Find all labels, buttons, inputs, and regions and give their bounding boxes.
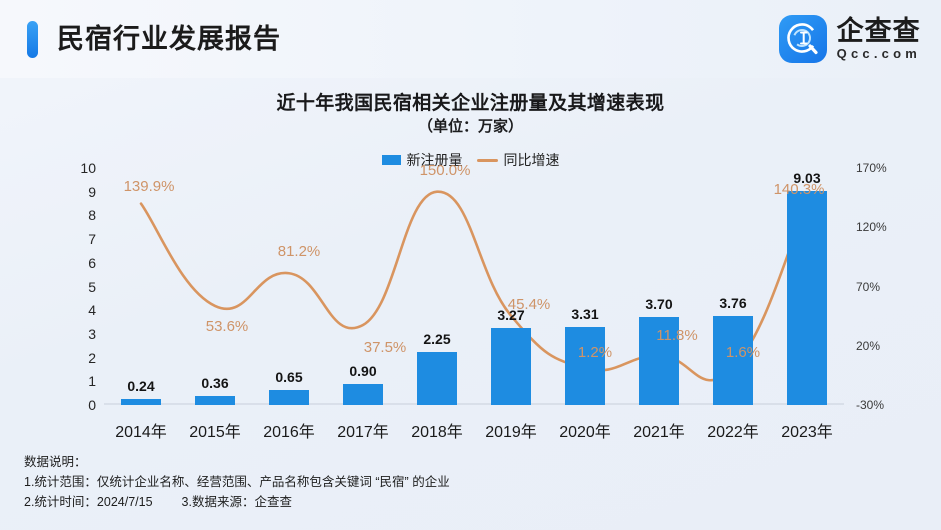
bar-value-label: 0.36 — [201, 375, 228, 391]
x-axis-label: 2021年 — [633, 418, 685, 442]
legend-line-swatch-icon — [477, 159, 498, 162]
qcc-logo-icon — [779, 15, 827, 63]
data-notes: 数据说明： 1.统计范围：仅统计企业名称、经营范围、产品名称包含关键词 “民宿”… — [24, 452, 450, 512]
growth-rate-label: 140.3% — [774, 181, 825, 198]
notes-time: 2.统计时间：2024/7/15 — [24, 495, 153, 509]
y-axis-left-tick: 1 — [88, 373, 96, 389]
bar-value-label: 3.31 — [571, 306, 598, 322]
brand-logo: 企查查 Qcc.com — [779, 14, 921, 64]
growth-rate-label: 53.6% — [206, 318, 249, 335]
header-accent-bar — [27, 21, 38, 58]
y-axis-left-tick: 6 — [88, 255, 96, 271]
y-axis-left-tick: 8 — [88, 207, 96, 223]
chart-legend: 新注册量 同比增速 — [0, 150, 941, 170]
x-axis-label: 2016年 — [263, 418, 315, 442]
bar-value-label: 0.90 — [349, 363, 376, 379]
growth-rate-label: 139.9% — [124, 178, 175, 195]
notes-heading: 数据说明： — [24, 452, 450, 472]
growth-rate-line — [141, 192, 807, 381]
y-axis-left-tick: 3 — [88, 326, 96, 342]
x-axis-label: 2017年 — [337, 418, 389, 442]
bar-2023年[interactable] — [787, 191, 827, 405]
y-axis-left-tick: 7 — [88, 231, 96, 247]
page-header: 民宿行业发展报告 企查查 Qcc.com — [0, 0, 941, 78]
notes-scope: 1.统计范围：仅统计企业名称、经营范围、产品名称包含关键词 “民宿” 的企业 — [24, 472, 450, 492]
growth-rate-label: 11.8% — [656, 327, 697, 344]
bar-value-label: 2.25 — [423, 331, 450, 347]
y-axis-right-tick: 170% — [856, 161, 887, 175]
y-axis-right-tick: 120% — [856, 220, 887, 234]
bar-2019年[interactable] — [491, 328, 531, 405]
growth-rate-label: 1.2% — [578, 344, 612, 361]
bar-value-label: 0.65 — [275, 369, 302, 385]
chart-plot-area: 0.240.360.650.902.253.273.313.703.769.03… — [104, 168, 844, 405]
y-axis-left-tick: 2 — [88, 350, 96, 366]
y-axis-left-tick: 4 — [88, 302, 96, 318]
y-axis-right-tick: 20% — [856, 339, 880, 353]
legend-line-label: 同比增速 — [504, 150, 560, 170]
x-axis-label: 2020年 — [559, 418, 611, 442]
bar-2014年[interactable] — [121, 399, 161, 405]
bar-2017年[interactable] — [343, 384, 383, 405]
legend-bar-swatch-icon — [382, 155, 401, 165]
chart-subtitle: （单位：万家） — [0, 115, 941, 136]
x-axis-label: 2015年 — [189, 418, 241, 442]
bar-2015年[interactable] — [195, 396, 235, 405]
logo-name-cn: 企查查 — [837, 17, 921, 45]
bar-value-label: 0.24 — [127, 378, 154, 394]
y-axis-left-tick: 5 — [88, 279, 96, 295]
x-axis-label: 2014年 — [115, 418, 167, 442]
notes-time-source: 2.统计时间：2024/7/15 3.数据来源：企查查 — [24, 492, 450, 512]
bar-value-label: 3.70 — [645, 296, 672, 312]
growth-rate-label: 45.4% — [508, 296, 551, 313]
x-axis-label: 2019年 — [485, 418, 537, 442]
growth-rate-label: 37.5% — [364, 339, 407, 356]
bar-2016年[interactable] — [269, 390, 309, 405]
chart-title: 近十年我国民宿相关企业注册量及其增速表现 — [0, 88, 941, 115]
y-axis-right-tick: -30% — [856, 398, 884, 412]
y-axis-right-tick: 70% — [856, 280, 880, 294]
legend-item-line[interactable]: 同比增速 — [477, 150, 560, 170]
x-axis-label: 2023年 — [781, 418, 833, 442]
logo-name-en: Qcc.com — [837, 46, 921, 61]
growth-rate-label: 81.2% — [278, 243, 321, 260]
growth-rate-label: 1.6% — [726, 344, 760, 361]
bar-value-label: 3.76 — [719, 295, 746, 311]
y-axis-left-tick: 10 — [80, 160, 96, 176]
bar-2018年[interactable] — [417, 352, 457, 405]
logo-wordmark: 企查查 Qcc.com — [837, 17, 921, 61]
page-title: 民宿行业发展报告 — [57, 21, 281, 57]
y-axis-left-tick: 0 — [88, 397, 96, 413]
x-axis-label: 2022年 — [707, 418, 759, 442]
growth-rate-label: 150.0% — [420, 162, 471, 179]
y-axis-left-tick: 9 — [88, 184, 96, 200]
notes-source: 3.数据来源：企查查 — [182, 495, 292, 509]
bar-2020年[interactable] — [565, 327, 605, 405]
x-axis-label: 2018年 — [411, 418, 463, 442]
